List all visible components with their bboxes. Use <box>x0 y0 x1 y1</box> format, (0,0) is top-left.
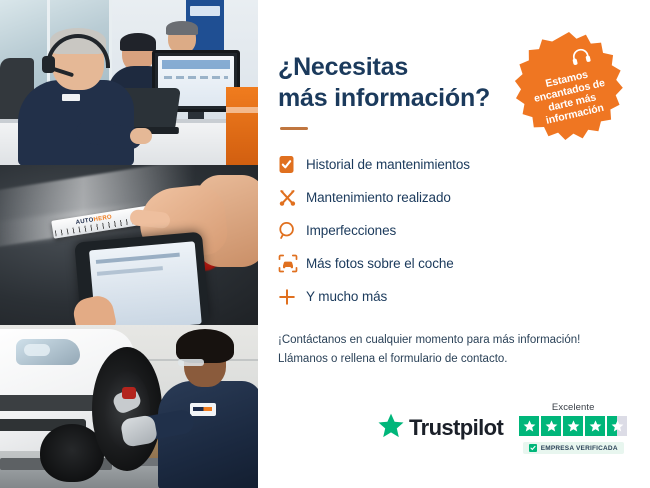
verified-company-badge: EMPRESA VERIFICADA <box>523 442 624 454</box>
checklist-document-icon <box>278 155 306 174</box>
plus-icon <box>278 288 306 306</box>
mechanic-wheel-photo <box>0 325 258 488</box>
trustpilot-rating[interactable]: Trustpilot Excelente <box>378 402 627 454</box>
agent-foreground <box>18 32 134 162</box>
feature-label: Mantenimiento realizado <box>306 190 451 205</box>
star-half-icon <box>607 416 627 436</box>
trustpilot-rating-label: Excelente <box>552 402 595 413</box>
feature-label: Más fotos sobre el coche <box>306 256 454 271</box>
magnifier-icon <box>278 221 306 240</box>
feature-label: Historial de mantenimientos <box>306 157 470 172</box>
trustpilot-wordmark: Trustpilot <box>409 415 503 441</box>
feature-item-maintenance-history: Historial de mantenimientos <box>278 148 622 181</box>
contact-line-1: ¡Contáctanos en cualquier momento para m… <box>278 334 580 346</box>
status-badge: Estamos encantados de darte más informac… <box>510 30 628 148</box>
title-underline-rule <box>280 127 308 130</box>
feature-item-imperfections: Imperfecciones <box>278 214 622 247</box>
page-title: ¿Necesitas más información? <box>278 52 506 113</box>
trustpilot-logo[interactable]: Trustpilot <box>378 413 503 443</box>
car-scan-photo-icon <box>278 254 306 273</box>
trustpilot-star-icon <box>378 413 404 443</box>
star-icon <box>541 416 561 436</box>
star-icon <box>519 416 539 436</box>
photo-column: AUTOHERO <box>0 0 258 488</box>
trustpilot-stars <box>519 416 627 436</box>
check-icon <box>529 444 537 452</box>
trustpilot-score-block: Excelente <box>519 402 627 454</box>
feature-label: Imperfecciones <box>306 223 396 238</box>
badge-text: Estamos encantados de darte más informac… <box>521 63 622 131</box>
autohero-uniform-logo <box>190 403 216 416</box>
car-headlight <box>16 339 80 365</box>
hand-tool <box>122 387 136 399</box>
work-glove <box>120 414 158 447</box>
headline-line-1: ¿Necesitas <box>278 53 408 81</box>
wrench-screwdriver-icon <box>278 188 306 207</box>
car-inspection-ruler-photo: AUTOHERO <box>0 165 258 325</box>
feature-item-more-photos: Más fotos sobre el coche <box>278 247 622 280</box>
orange-divider-panel <box>226 87 258 165</box>
star-icon <box>563 416 583 436</box>
star-icon <box>585 416 605 436</box>
feature-item-and-more: Y mucho más <box>278 280 622 313</box>
car-grille-upper <box>0 395 104 411</box>
call-center-agents-photo <box>0 0 258 165</box>
contact-line-2: Llámanos o rellena el formulario de cont… <box>278 353 508 365</box>
content-panel: ¿Necesitas más información? Historial de… <box>258 0 650 488</box>
feature-item-maintenance-done: Mantenimiento realizado <box>278 181 622 214</box>
contact-info-banner: AUTOHERO <box>0 0 650 488</box>
mechanic <box>148 329 258 488</box>
feature-label: Y mucho más <box>306 289 387 304</box>
headline-line-2: más información? <box>278 84 490 112</box>
contact-instructions: ¡Contáctanos en cualquier momento para m… <box>278 331 622 368</box>
safety-glasses <box>178 359 204 366</box>
feature-list: Historial de mantenimientos M <box>278 148 622 313</box>
verified-badge-label: EMPRESA VERIFICADA <box>541 445 618 452</box>
